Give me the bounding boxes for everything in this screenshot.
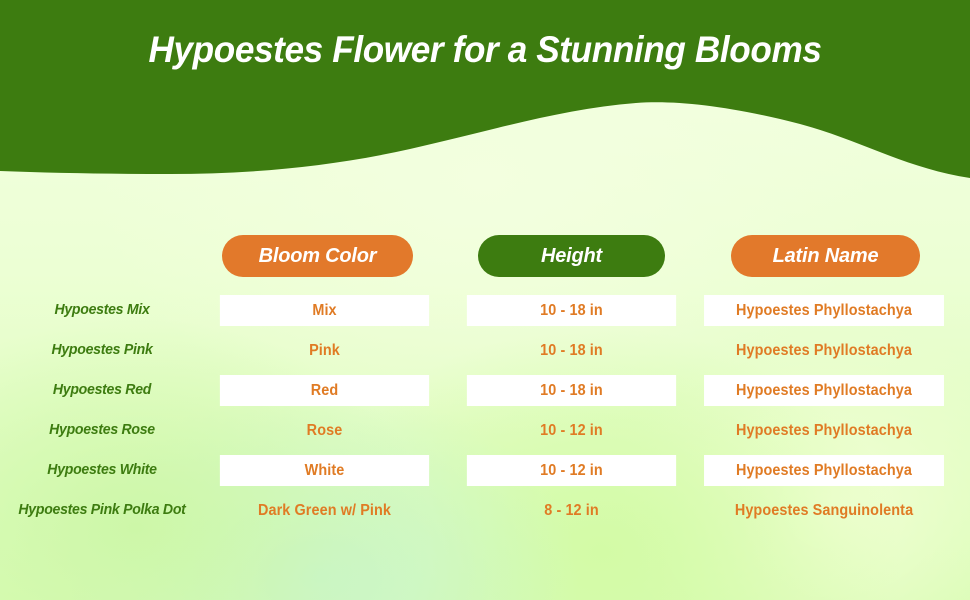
cell-bloom-color-row-3: Red [220, 375, 429, 406]
cell-bloom-color-row-1: Mix [220, 295, 429, 326]
cell-bloom-color-row-6: Dark Green w/ Pink [220, 495, 429, 526]
cell-height-row-2: 10 - 18 in [467, 335, 676, 366]
cell-height-row-3: 10 - 18 in [467, 375, 676, 406]
column-header-bloom-color: Bloom Color [222, 235, 413, 277]
row-label-hypoestes-mix: Hypoestes Mix [6, 301, 198, 318]
cell-latin-name-row-5: Hypoestes Phyllostachya [704, 455, 944, 486]
cell-latin-name-row-2: Hypoestes Phyllostachya [704, 335, 944, 366]
comparison-table: Bloom Color Height Latin Name Hypoestes … [0, 0, 970, 600]
row-label-hypoestes-rose: Hypoestes Rose [6, 421, 198, 438]
row-label-hypoestes-pink-polka-dot: Hypoestes Pink Polka Dot [6, 501, 198, 518]
cell-height-row-5: 10 - 12 in [467, 455, 676, 486]
column-header-latin-name: Latin Name [731, 235, 920, 277]
cell-height-row-1: 10 - 18 in [467, 295, 676, 326]
cell-bloom-color-row-5: White [220, 455, 429, 486]
cell-height-row-4: 10 - 12 in [467, 415, 676, 446]
cell-height-row-6: 8 - 12 in [467, 495, 676, 526]
column-header-height: Height [478, 235, 665, 277]
infographic-poster: Hypoestes Flower for a Stunning Blooms B… [0, 0, 970, 600]
row-label-hypoestes-pink: Hypoestes Pink [6, 341, 198, 358]
cell-bloom-color-row-2: Pink [220, 335, 429, 366]
cell-bloom-color-row-4: Rose [220, 415, 429, 446]
row-label-hypoestes-red: Hypoestes Red [6, 381, 198, 398]
cell-latin-name-row-1: Hypoestes Phyllostachya [704, 295, 944, 326]
cell-latin-name-row-4: Hypoestes Phyllostachya [704, 415, 944, 446]
row-label-hypoestes-white: Hypoestes White [6, 461, 198, 478]
cell-latin-name-row-3: Hypoestes Phyllostachya [704, 375, 944, 406]
cell-latin-name-row-6: Hypoestes Sanguinolenta [704, 495, 944, 526]
